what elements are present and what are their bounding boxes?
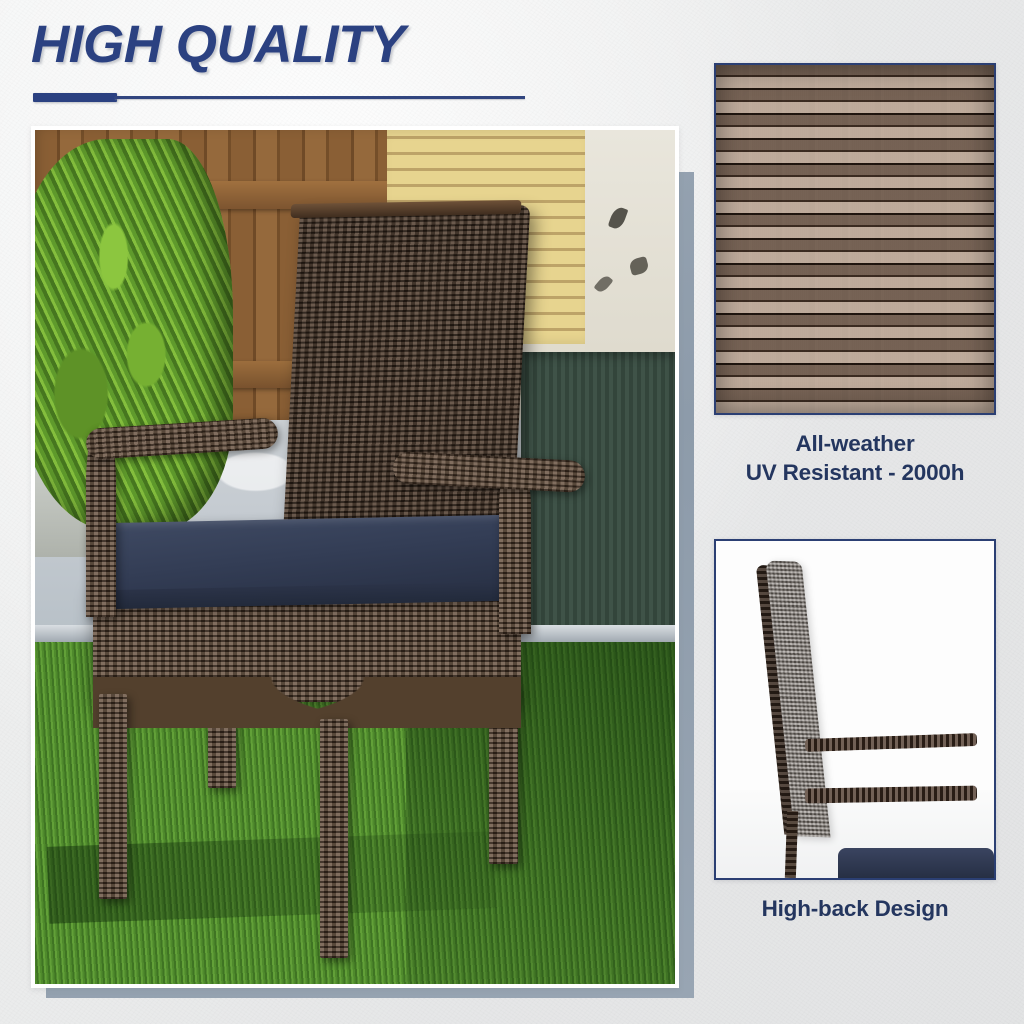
feature-card-all-weather: All-weather UV Resistant - 2000h xyxy=(714,63,996,487)
rattan-weave-texture xyxy=(716,65,994,413)
caption-line-2: UV Resistant - 2000h xyxy=(714,458,996,487)
feature-caption-all-weather: All-weather UV Resistant - 2000h xyxy=(714,429,996,487)
hero-photo xyxy=(35,130,675,984)
chair-seat-apron xyxy=(93,677,522,728)
divider-thick-segment xyxy=(33,93,117,102)
rattan-weave-thumbnail[interactable] xyxy=(714,63,996,415)
feature-card-high-back: High-back Design xyxy=(714,539,996,923)
title-divider xyxy=(33,93,525,103)
hero-photo-frame[interactable] xyxy=(31,126,679,988)
profile-arm-rail-top xyxy=(805,733,978,752)
profile-seat-cushion xyxy=(838,848,994,878)
chair-profile-photo xyxy=(716,541,994,878)
page-title: HIGH QUALITY xyxy=(31,14,405,75)
chair-backrest xyxy=(282,205,531,559)
caption-line-1: All-weather xyxy=(714,429,996,458)
stucco-wall xyxy=(585,130,675,369)
chair-profile-thumbnail[interactable] xyxy=(714,539,996,880)
chair-leg-front-left xyxy=(99,694,127,899)
divider-thin-line xyxy=(115,96,525,99)
conifer-shrub xyxy=(35,139,233,532)
profile-rear-leg xyxy=(784,810,797,878)
chair-leg-front-right xyxy=(320,719,348,958)
caption-line-1: High-back Design xyxy=(714,894,996,923)
profile-arm-rail-bottom xyxy=(805,785,978,803)
feature-caption-high-back: High-back Design xyxy=(714,894,996,923)
